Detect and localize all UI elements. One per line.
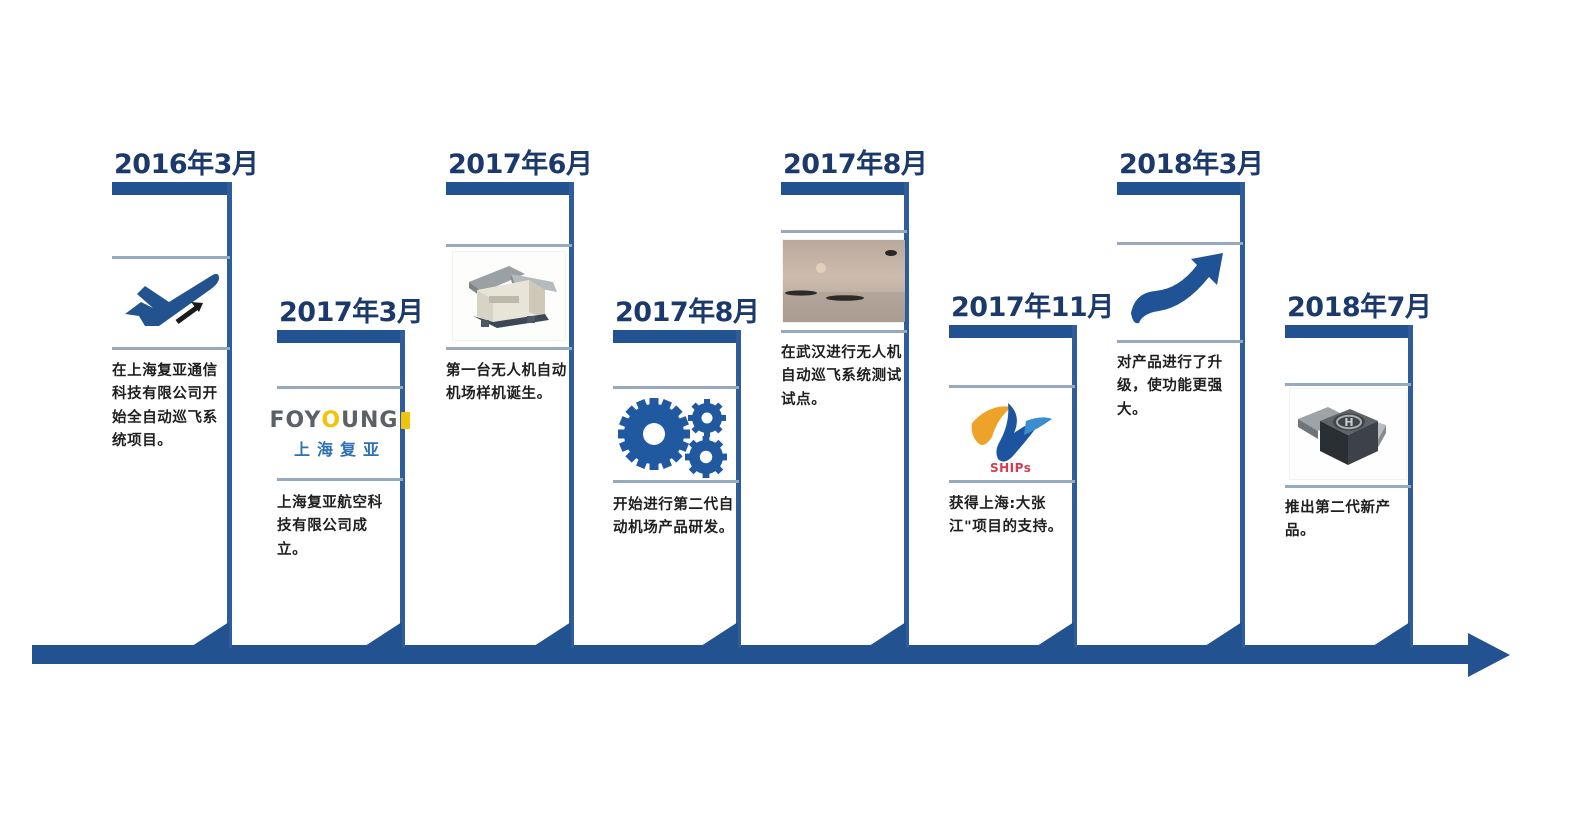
card-rule-top	[781, 230, 907, 233]
milestone-card-7[interactable]: 2018年3月 对产品进行了升级，使功能更强大。	[1117, 182, 1245, 648]
card-rule-bottom	[446, 347, 572, 350]
card-stem-foot	[189, 622, 229, 648]
card-stem	[736, 330, 741, 648]
river-dusk-photo	[781, 236, 907, 326]
milestone-caption: 在上海复亚通信科技有限公司开始全自动巡飞系统项目。	[112, 360, 224, 454]
milestone-caption: 开始进行第二代自动机场产品研发。	[613, 494, 735, 541]
milestone-date: 2018年3月	[1119, 142, 1263, 181]
timeline-infographic: 2016年3月 在上海复亚通信科技有限公司开始全自动巡飞系统项目。 2017年3…	[0, 0, 1572, 824]
card-stem-foot	[698, 622, 738, 648]
card-stem	[227, 182, 232, 648]
drone-landing-pad-photo: H	[1285, 387, 1411, 481]
milestone-card-2[interactable]: 2017年3月 FOYOUNG 上海复亚 上海复亚航空科技有限公司成立。	[277, 330, 405, 648]
card-rule-bottom	[1117, 340, 1243, 343]
card-rule-top	[446, 244, 572, 247]
foyoung-accent-square	[401, 412, 410, 429]
card-rule-bottom	[112, 347, 230, 350]
gears-icon	[613, 392, 739, 480]
card-topbar	[781, 182, 909, 195]
card-stem-foot	[1202, 622, 1242, 648]
milestone-date: 2017年11月	[951, 285, 1114, 324]
card-topbar	[613, 330, 741, 343]
card-topbar	[446, 182, 574, 195]
milestone-caption: 对产品进行了升级，使功能更强大。	[1117, 352, 1239, 422]
milestone-date: 2017年8月	[783, 142, 927, 181]
card-stem-foot	[1034, 622, 1074, 648]
card-rule-top	[112, 256, 230, 259]
milestone-date: 2018年7月	[1287, 285, 1431, 324]
milestone-caption: 上海复亚航空科技有限公司成立。	[277, 492, 397, 562]
growth-arrow-icon	[1117, 246, 1243, 336]
airplane-takeoff-icon	[112, 262, 230, 342]
timeline-axis	[32, 645, 1508, 665]
milestone-caption: 在武汉进行无人机自动巡飞系统测试试点。	[781, 342, 903, 412]
milestone-caption: 获得上海:大张江"项目的支持。	[949, 493, 1071, 540]
card-rule-bottom	[613, 480, 739, 483]
card-rule-bottom	[277, 478, 403, 481]
timeline-arrow-icon	[1468, 633, 1510, 677]
card-topbar	[949, 325, 1077, 338]
svg-text:H: H	[1344, 416, 1353, 429]
card-rule-top	[1285, 383, 1411, 386]
card-stem-foot	[866, 622, 906, 648]
milestone-caption: 第一台无人机自动机场样机诞生。	[446, 360, 568, 407]
card-topbar	[1117, 182, 1245, 195]
card-rule-bottom	[1285, 485, 1411, 488]
foyoung-subtext: 上海复亚	[294, 436, 386, 460]
milestone-date: 2017年8月	[615, 290, 759, 329]
card-rule-top	[1117, 242, 1243, 245]
card-stem	[1072, 325, 1077, 648]
card-rule-bottom	[949, 480, 1075, 483]
card-topbar	[112, 182, 232, 195]
milestone-card-8[interactable]: 2018年7月 H 推出第	[1285, 325, 1413, 648]
card-rule-top	[613, 386, 739, 389]
milestone-date: 2017年3月	[279, 290, 423, 329]
card-stem-foot	[362, 622, 402, 648]
timeline-axis-bar	[32, 645, 1476, 664]
ships-logo: SHIPs	[949, 391, 1075, 481]
drone-hangar-photo	[446, 250, 572, 342]
card-topbar	[1285, 325, 1413, 338]
milestone-date: 2017年6月	[448, 142, 592, 181]
foyoung-logo: FOYOUNG 上海复亚	[277, 394, 403, 474]
card-rule-top	[949, 385, 1075, 388]
card-rule-top	[277, 386, 403, 389]
milestone-card-1[interactable]: 2016年3月 在上海复亚通信科技有限公司开始全自动巡飞系统项目。	[112, 182, 232, 648]
card-stem-foot	[1370, 622, 1410, 648]
milestone-card-4[interactable]: 2017年8月	[613, 330, 741, 648]
ships-wordmark: SHIPs	[990, 461, 1031, 475]
milestone-date: 2016年3月	[114, 142, 258, 181]
milestone-card-6[interactable]: 2017年11月 SHIPs 获得上海:大张江"项目的支持。	[949, 325, 1077, 648]
foyoung-wordmark: FOYOUNG	[270, 408, 411, 433]
milestone-card-3[interactable]: 2017年6月 第一台无	[446, 182, 574, 648]
card-rule-bottom	[781, 330, 907, 333]
card-stem	[400, 330, 405, 648]
milestone-card-5[interactable]: 2017年8月	[781, 182, 909, 648]
card-stem-foot	[531, 622, 571, 648]
milestone-caption: 推出第二代新产品。	[1285, 497, 1407, 544]
card-topbar	[277, 330, 405, 343]
